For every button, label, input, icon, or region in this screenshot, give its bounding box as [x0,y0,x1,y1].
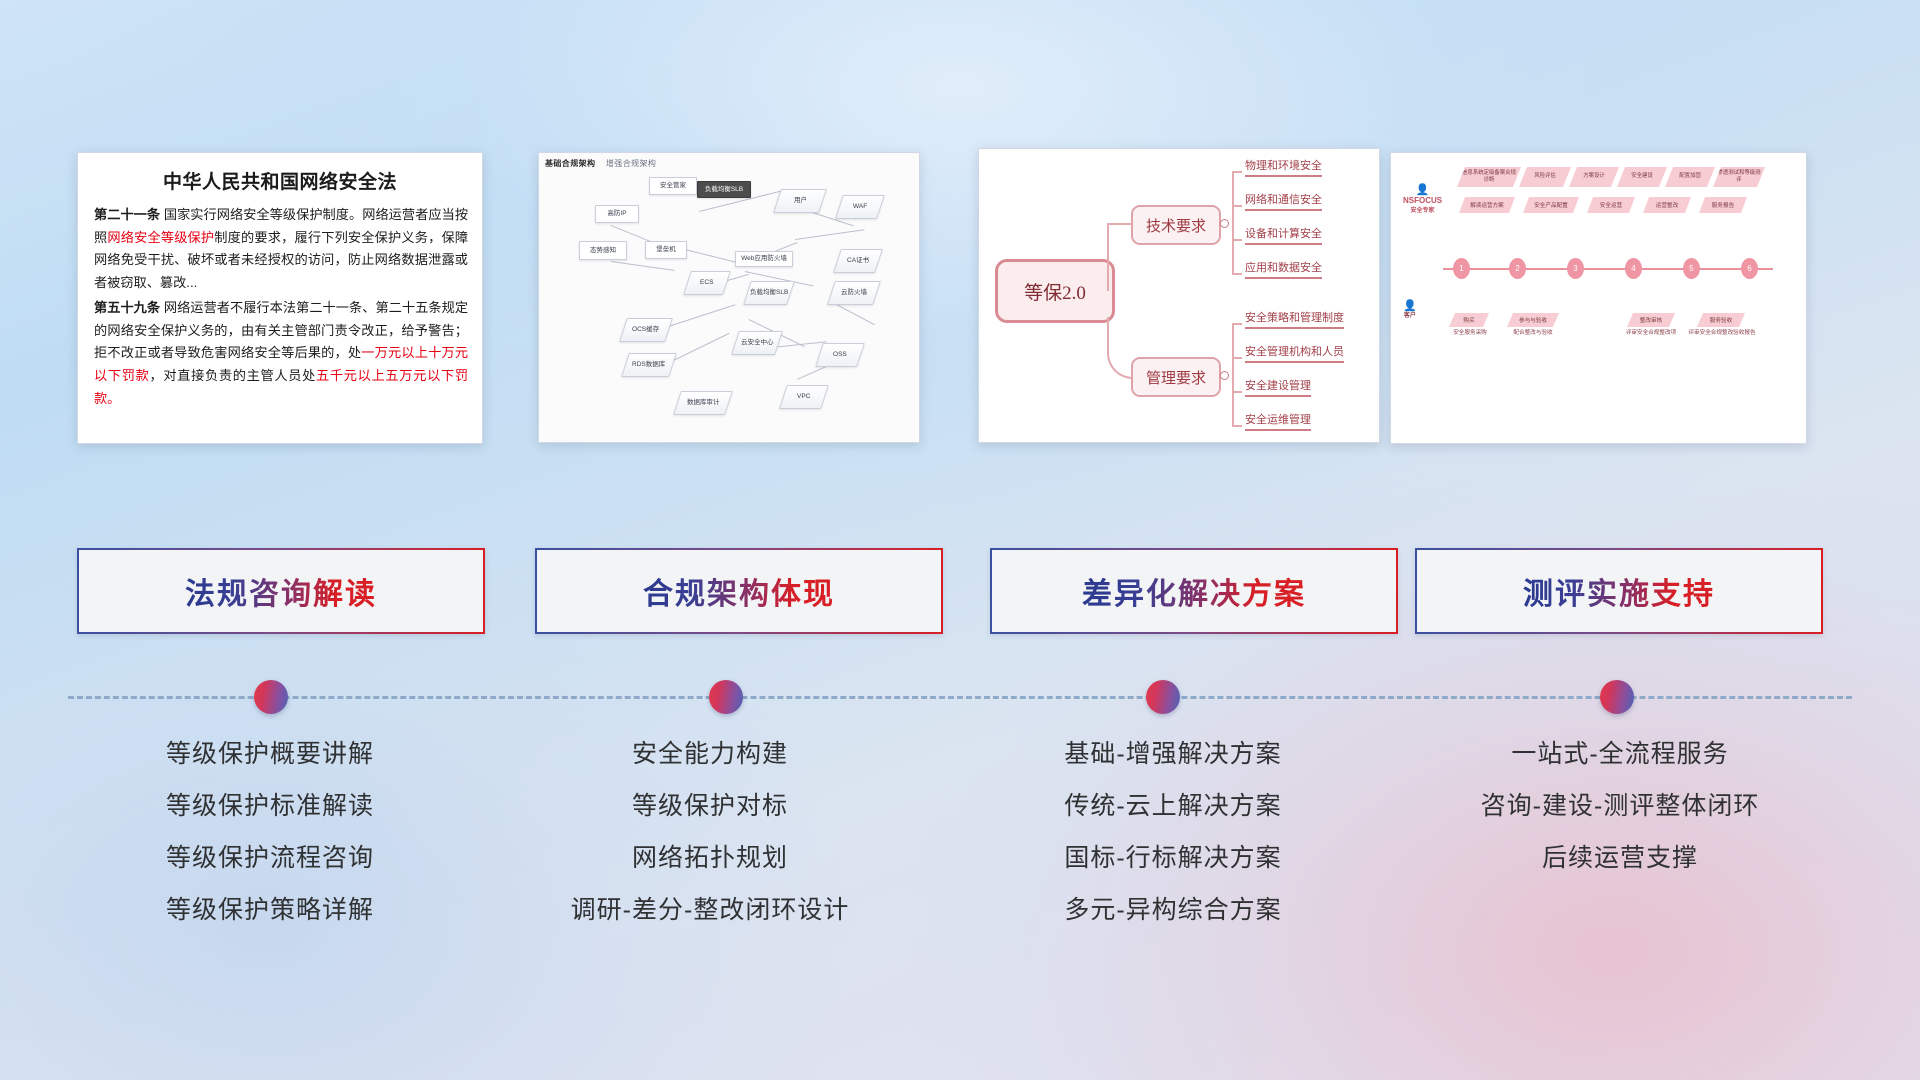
mindmap-leaf[interactable]: 安全建设管理 [1245,377,1311,397]
roadmap-top-step[interactable]: 信息系统定级备案合规诊断 [1457,167,1521,187]
mindmap-leaf[interactable]: 应用和数据安全 [1245,259,1322,279]
article-21-highlight: 网络安全等级保护 [107,230,214,245]
roadmap-card[interactable]: 👤 NSFOCUS 安全专家 信息系统定级备案合规诊断 风险评估 方案设计 安全… [1390,152,1807,444]
stage-header-4[interactable]: 测评实施支持 [1415,548,1823,634]
arch-node[interactable]: 安全管家 [649,177,697,195]
arch-node[interactable]: 云安全中心 [731,331,783,355]
article-59-text-b: ，对直接负责的主管人员处 [150,368,317,383]
roadmap-bottom-sub: 安全服务采购 [1443,330,1497,338]
roadmap-timeline [1443,268,1773,270]
list-item: 安全能力构建 [500,742,920,767]
stage-header-2[interactable]: 合规架构体现 [535,548,943,634]
arch-node[interactable]: Web应用防火墙 [735,251,793,267]
list-item: 基础-增强解决方案 [963,742,1383,767]
list-item: 等级保护概要讲解 [60,742,480,767]
roadmap-bottom-sub: 评审安全合规整改项 [1615,330,1687,338]
arch-node[interactable]: ECS [683,271,731,295]
law-article-21: 第二十一条 国家实行网络安全等级保护制度。网络运营者应当按照网络安全等级保护制度… [94,204,468,295]
arch-node[interactable]: VPC [779,385,829,409]
roadmap-step-number[interactable]: 2 [1509,258,1526,279]
roadmap-top-step[interactable]: 安全建设 [1617,167,1667,187]
roadmap-step-number[interactable]: 5 [1683,258,1700,279]
arch-node[interactable]: OCS缓存 [619,318,673,342]
client-icon: 👤 [1403,301,1417,312]
architecture-diagram-card[interactable]: 基础合规架构 增强合规架构 [538,152,920,443]
mindmap-tick [1232,425,1242,427]
roadmap-band-label[interactable]: 安全产品配置 [1523,197,1579,213]
article-21-label: 第二十一条 [94,207,160,222]
stage-header-1[interactable]: 法规咨询解读 [77,548,485,634]
roadmap-bottom-tag[interactable]: 购买 [1449,313,1489,327]
roadmap-band-label[interactable]: 安全运营 [1587,197,1635,213]
mindmap-branch-technical[interactable]: 技术要求 [1131,205,1221,245]
law-text-card[interactable]: 中华人民共和国网络安全法 第二十一条 国家实行网络安全等级保护制度。网络运营者应… [77,152,483,444]
list-item: 等级保护流程咨询 [60,846,480,871]
mindmap-tick [1232,239,1242,241]
roadmap-top-step[interactable]: 方案设计 [1569,167,1619,187]
list-item: 传统-云上解决方案 [963,794,1383,819]
law-card-body: 第二十一条 国家实行网络安全等级保护制度。网络运营者应当按照网络安全等级保护制度… [78,204,482,420]
list-item: 网络拓扑规划 [500,846,920,871]
mindmap-leaf[interactable]: 安全策略和管理制度 [1245,309,1344,329]
arch-node[interactable]: 高防IP [595,205,639,223]
stage-header-3[interactable]: 差异化解决方案 [990,548,1398,634]
architecture-canvas: 基础合规架构 增强合规架构 [539,153,919,442]
client-label: 客户 [1403,312,1417,320]
arch-node[interactable]: CA证书 [833,249,883,273]
list-item: 咨询-建设-测评整体闭环 [1410,794,1830,819]
mindmap-collapse-dot[interactable] [1220,371,1229,380]
timeline-dot-3[interactable] [1146,680,1180,714]
roadmap-bottom-tag[interactable]: 整改审核 [1627,313,1675,327]
law-article-59: 第五十九条 网络运营者不履行本法第二十一条、第二十五条规定的网络安全保护义务的，… [94,297,468,411]
timeline-dot-4[interactable] [1600,680,1634,714]
mindmap-leaf[interactable]: 物理和环境安全 [1245,157,1322,177]
list-item: 后续运营支撑 [1410,846,1830,871]
law-card-title: 中华人民共和国网络安全法 [78,167,482,194]
detail-list-4: 一站式-全流程服务 咨询-建设-测评整体闭环 后续运营支撑 [1410,742,1830,898]
roadmap-step-number[interactable]: 1 [1453,258,1470,279]
brand-sub: 安全专家 [1403,207,1442,215]
mindmap-root-node[interactable]: 等保2.0 [995,259,1115,323]
arch-node[interactable]: 堡垒机 [645,241,687,259]
list-item: 调研-差分-整改闭环设计 [500,898,920,923]
timeline-dot-2[interactable] [709,680,743,714]
roadmap-canvas: 👤 NSFOCUS 安全专家 信息系统定级备案合规诊断 风险评估 方案设计 安全… [1391,153,1806,443]
arch-node[interactable]: 用户 [773,189,827,213]
list-item: 等级保护标准解读 [60,794,480,819]
mindmap-spine [1232,171,1234,275]
roadmap-bottom-tag[interactable]: 服务验收 [1697,313,1745,327]
stage-header-4-label: 测评实施支持 [1523,569,1715,613]
mindmap-leaf[interactable]: 安全运维管理 [1245,411,1311,431]
roadmap-top-step[interactable]: 渗透测试和等级测评 [1713,167,1765,187]
tab-enhanced-compliance[interactable]: 增强合规架构 [606,159,656,168]
arch-node[interactable]: 态势感知 [579,241,627,260]
roadmap-bottom-sub: 配合整改与验收 [1501,330,1565,338]
mindmap-collapse-dot[interactable] [1220,219,1229,228]
timeline-dot-1[interactable] [254,680,288,714]
list-item: 多元-异构综合方案 [963,898,1383,923]
roadmap-band-label[interactable]: 服务报告 [1699,197,1747,213]
roadmap-top-step[interactable]: 配置加固 [1665,167,1715,187]
list-item: 等级保护策略详解 [60,898,480,923]
mindmap-tick [1232,323,1242,325]
nsfocus-logo: 👤 NSFOCUS 安全专家 [1403,185,1442,215]
detail-list-3: 基础-增强解决方案 传统-云上解决方案 国标-行标解决方案 多元-异构综合方案 [963,742,1383,950]
roadmap-top-step[interactable]: 风险评估 [1519,167,1571,187]
mindmap-canvas: 等保2.0 技术要求 管理要求 物理和环境安全 网络和通信安全 设备和计算安全 … [979,149,1379,442]
client-icon-group: 👤 客户 [1403,301,1417,320]
roadmap-step-number[interactable]: 6 [1741,258,1758,279]
arch-node[interactable]: 数据库审计 [673,391,733,415]
stage-header-2-label: 合规架构体现 [643,569,835,613]
mindmap-tick [1232,273,1242,275]
arch-node[interactable]: 云防火墙 [827,281,881,305]
timeline-dashed-line [68,696,1852,699]
roadmap-band-label[interactable]: 运营整改 [1643,197,1691,213]
article-59-label: 第五十九条 [94,300,160,315]
mindmap-card[interactable]: 等保2.0 技术要求 管理要求 物理和环境安全 网络和通信安全 设备和计算安全 … [978,148,1380,443]
arch-node[interactable]: 负载均衡SLB [697,181,751,198]
mindmap-leaf[interactable]: 安全管理机构和人员 [1245,343,1344,363]
top-card-row: 中华人民共和国网络安全法 第二十一条 国家实行网络安全等级保护制度。网络运营者应… [0,0,1920,440]
list-item: 国标-行标解决方案 [963,846,1383,871]
roadmap-band-label[interactable]: 解读运营方案 [1459,197,1515,213]
arch-node[interactable]: WAF [835,195,885,219]
tab-basic-compliance[interactable]: 基础合规架构 [545,159,595,168]
arch-link [795,229,864,240]
mindmap-tick [1232,357,1242,359]
mindmap-tick [1232,171,1242,173]
roadmap-step-number[interactable]: 4 [1625,258,1642,279]
stage-header-3-label: 差异化解决方案 [1082,569,1306,613]
arch-node[interactable]: RDS数据库 [621,353,677,377]
detail-list-1: 等级保护概要讲解 等级保护标准解读 等级保护流程咨询 等级保护策略详解 [60,742,480,950]
mindmap-tick [1232,391,1242,393]
arch-link [611,261,675,271]
stage-header-1-label: 法规咨询解读 [185,569,377,613]
mindmap-tick [1232,205,1242,207]
mindmap-spine [1232,323,1234,427]
arch-node[interactable]: OSS [815,343,865,367]
mindmap-leaf[interactable]: 网络和通信安全 [1245,191,1322,211]
arch-node[interactable]: 负载均衡SLB [743,281,795,305]
mindmap-leaf[interactable]: 设备和计算安全 [1245,225,1322,245]
mindmap-branch-management[interactable]: 管理要求 [1131,357,1221,397]
brand-name: NSFOCUS [1403,196,1442,207]
architecture-tabs: 基础合规架构 增强合规架构 [545,158,656,169]
person-icon: 👤 [1403,185,1442,196]
list-item: 一站式-全流程服务 [1410,742,1830,767]
slide-canvas: 中华人民共和国网络安全法 第二十一条 国家实行网络安全等级保护制度。网络运营者应… [0,0,1920,1080]
detail-list-2: 安全能力构建 等级保护对标 网络拓扑规划 调研-差分-整改闭环设计 [500,742,920,950]
roadmap-bottom-sub: 评审安全合规整改验收报告 [1685,330,1759,338]
roadmap-step-number[interactable]: 3 [1567,258,1584,279]
list-item: 等级保护对标 [500,794,920,819]
roadmap-bottom-tag[interactable]: 参与与验收 [1507,313,1559,327]
